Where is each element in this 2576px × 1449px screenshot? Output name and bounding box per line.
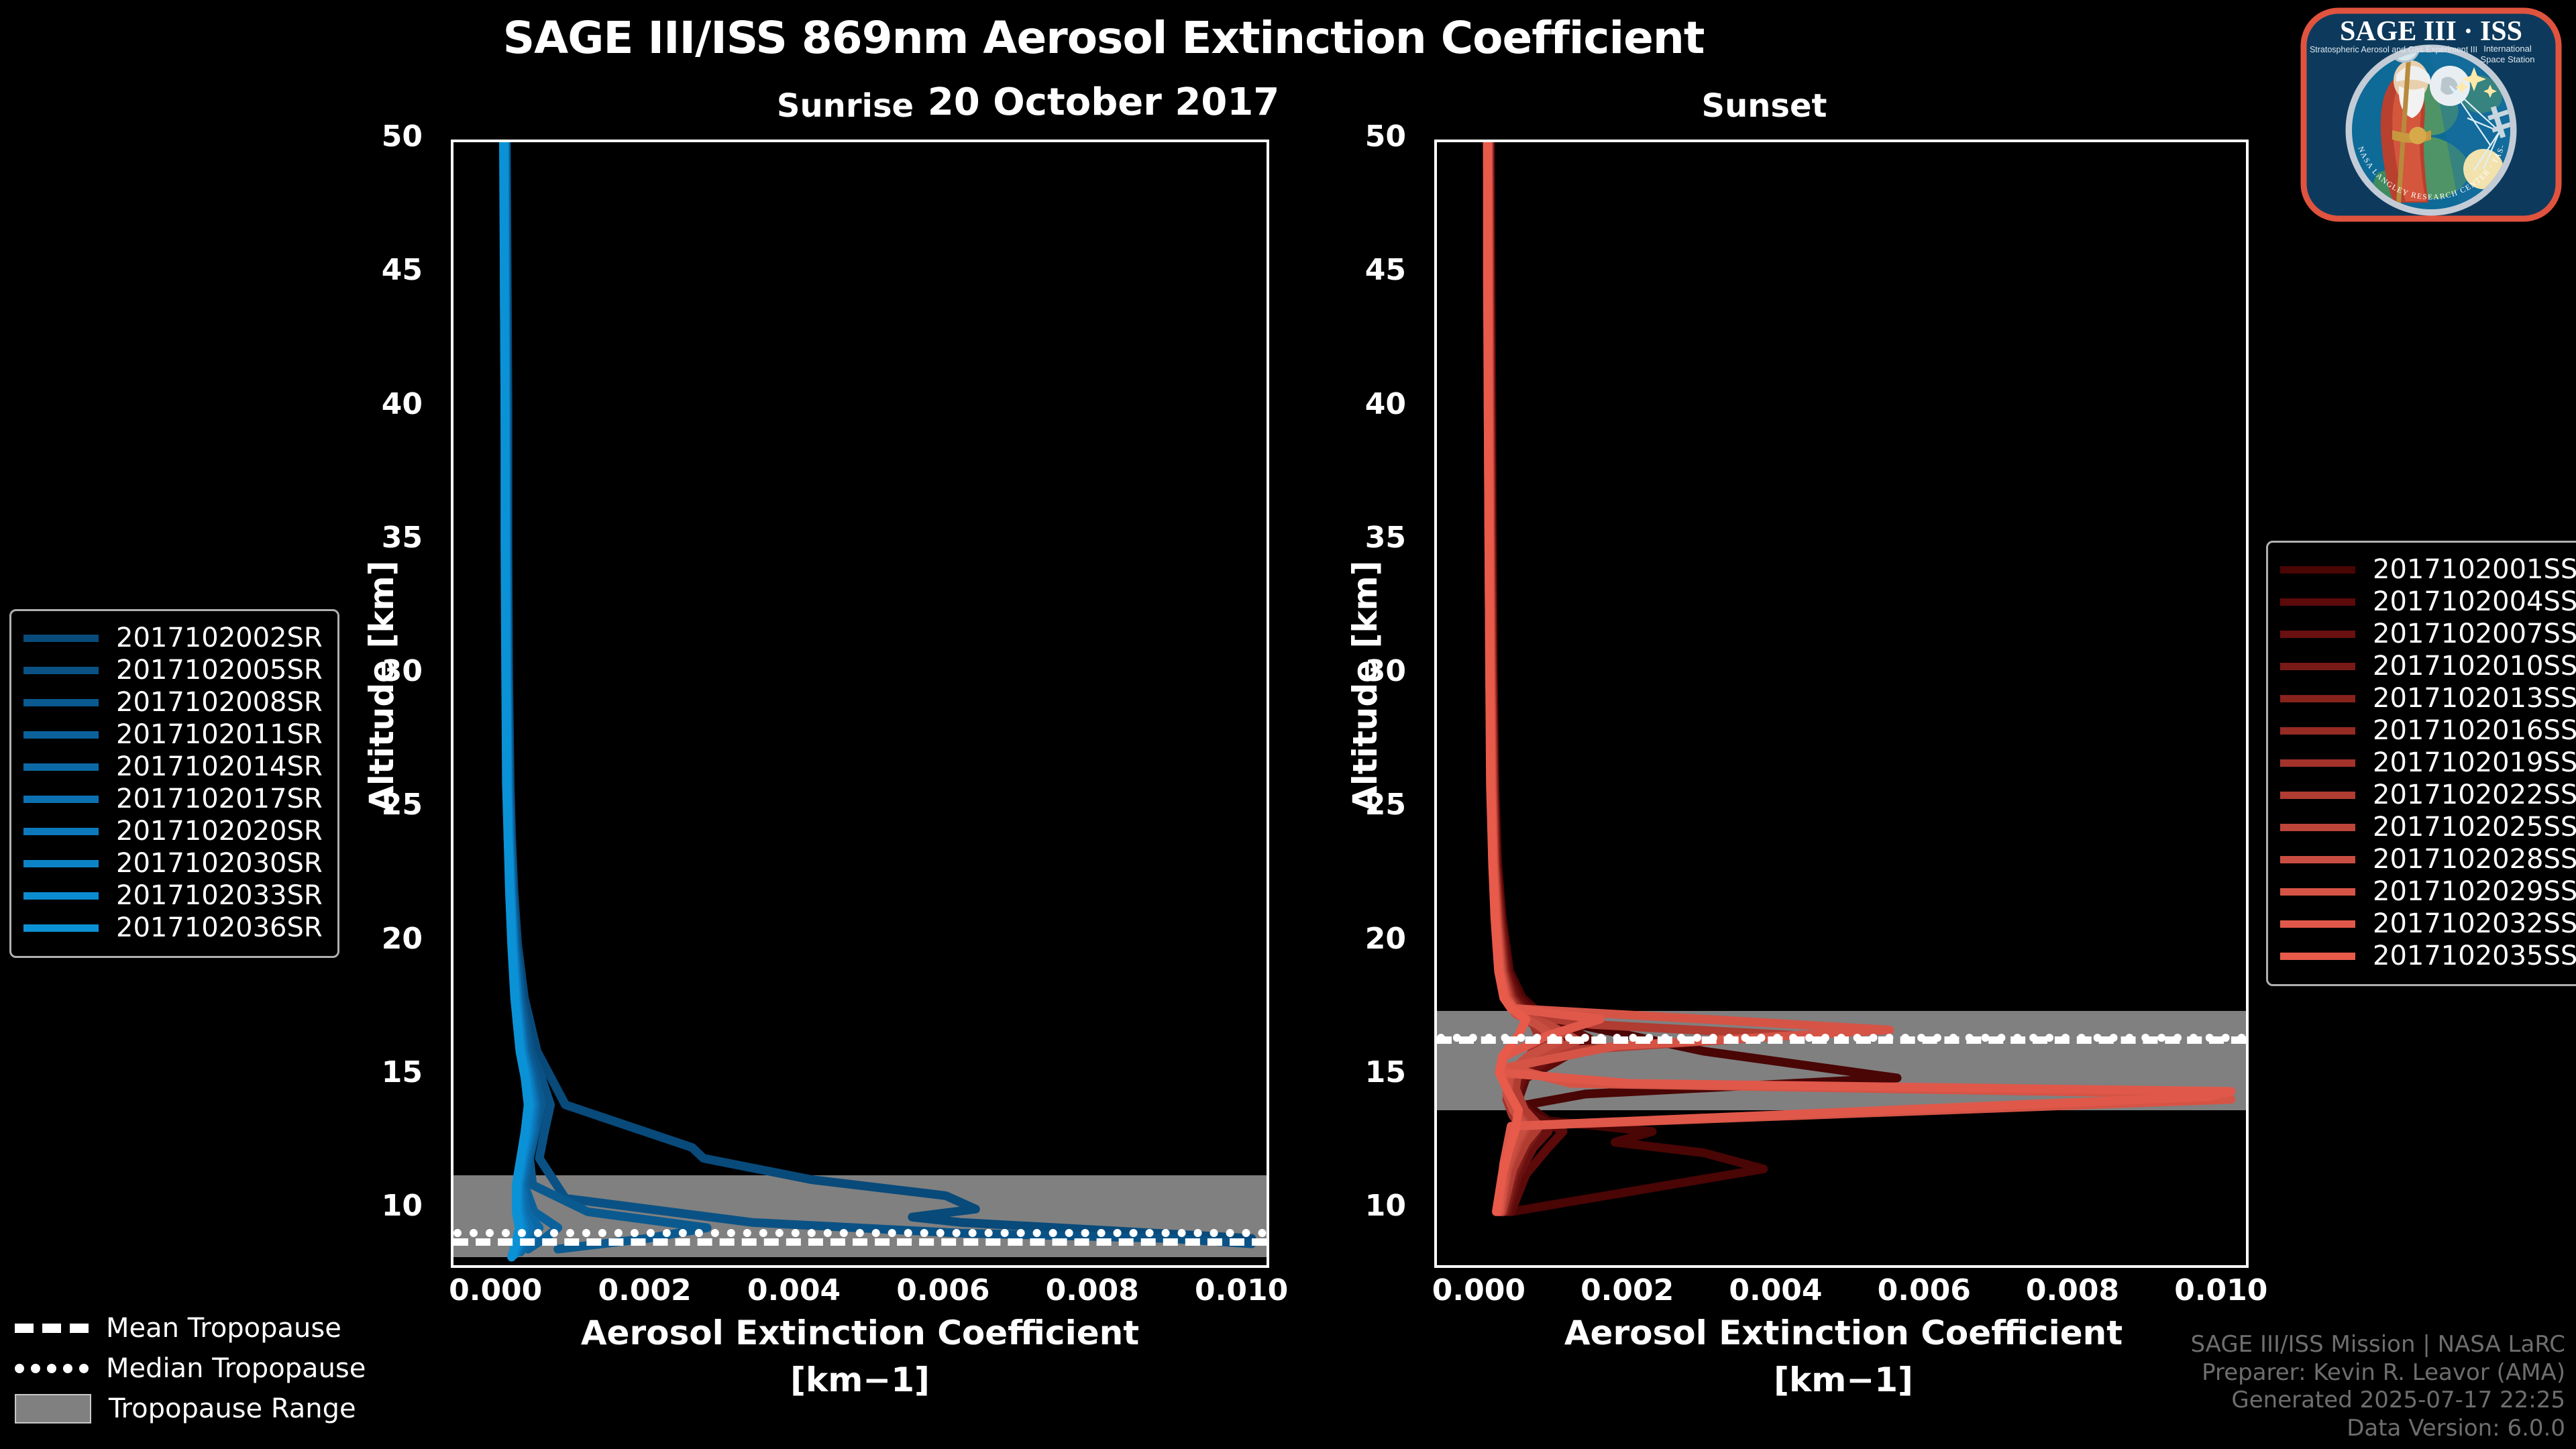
sage-iii-iss-mission-logo: BALL · NASA LANGLEY RESEARCH CENTER · TA… <box>2298 5 2564 224</box>
logo-subtitle-right-2: Space Station <box>2481 54 2535 64</box>
legend-item-label: 2017102016SS <box>2373 715 2576 746</box>
y-tick <box>1434 1077 1437 1079</box>
legend-color-swatch <box>23 667 99 674</box>
legend-item-label: 2017102032SS <box>2373 908 2576 939</box>
credit-line-version: Data Version: 6.0.0 <box>2190 1415 2565 1442</box>
sunset-profile-curves <box>1437 142 2246 1265</box>
legend-item-label: 2017102013SS <box>2373 683 2576 714</box>
profile-line <box>506 142 1252 1238</box>
x-tick-label: 0.006 <box>1850 1273 1998 1307</box>
legend-item-label: 2017102002SR <box>116 623 323 653</box>
y-tick-label: 50 <box>302 119 423 154</box>
profile-line <box>504 142 529 1257</box>
legend-item-label: 2017102020SR <box>116 816 323 847</box>
sunset-x-axis-units: [km−1] <box>1428 1360 2259 1399</box>
sunset-legend: 2017102001SS2017102004SS2017102007SS2017… <box>2266 541 2576 986</box>
legend-item-label: 2017102029SS <box>2373 876 2576 907</box>
legend-item-label: 2017102010SS <box>2373 651 2576 682</box>
legend-item[interactable]: 2017102014SR <box>23 751 323 783</box>
logo-subtitle-right-1: International <box>2483 44 2532 54</box>
y-tick <box>1434 809 1437 812</box>
legend-item[interactable]: 2017102022SS <box>2280 779 2576 811</box>
legend-item-label: 2017102019SS <box>2373 747 2576 778</box>
sunrise-x-axis-title: Aerosol Extinction Coefficient <box>444 1313 1276 1352</box>
y-tick-label: 20 <box>1285 922 1406 956</box>
y-tick-label: 35 <box>1285 521 1406 555</box>
y-tick <box>451 1077 453 1079</box>
y-tick <box>1434 1210 1437 1213</box>
y-tick <box>451 1210 453 1213</box>
y-tick-label: 30 <box>302 654 423 688</box>
sunset-panel-label: Sunset <box>1610 87 1919 125</box>
x-tick-label: 0.002 <box>571 1273 718 1307</box>
legend-item[interactable]: 2017102019SS <box>2280 747 2576 779</box>
y-tick <box>451 542 453 545</box>
x-tick-label: 0.010 <box>1168 1273 1316 1307</box>
legend-item-label: 2017102022SS <box>2373 780 2576 810</box>
y-tick-label: 40 <box>302 387 423 421</box>
sunrise-profile-curves <box>453 142 1267 1265</box>
dotted-line-icon <box>15 1364 89 1373</box>
y-tick-label: 45 <box>1285 253 1406 287</box>
y-tick <box>1434 542 1437 545</box>
y-tick-label: 25 <box>302 788 423 822</box>
legend-color-swatch <box>2280 663 2355 670</box>
legend-item[interactable]: 2017102020SR <box>23 815 323 847</box>
y-tick <box>451 676 453 678</box>
profile-line <box>506 142 1252 1244</box>
y-tick <box>1434 676 1437 678</box>
legend-item[interactable]: 2017102032SS <box>2280 908 2576 940</box>
legend-color-swatch <box>2280 856 2355 863</box>
tropopause-legend: Mean Tropopause Median Tropopause Tropop… <box>15 1308 366 1429</box>
legend-item[interactable]: 2017102017SR <box>23 783 323 815</box>
y-tick-label: 30 <box>1285 654 1406 688</box>
legend-label-median-tropopause: Median Tropopause <box>106 1353 366 1384</box>
legend-color-swatch <box>23 731 99 739</box>
mean-tropopause-line <box>453 1238 1267 1246</box>
y-tick <box>1434 274 1437 277</box>
credit-line-generated: Generated 2025-07-17 22:25 <box>2190 1387 2565 1414</box>
x-tick-label: 0.008 <box>1018 1273 1166 1307</box>
sunrise-plot-area <box>451 140 1269 1268</box>
y-tick-label: 10 <box>1285 1189 1406 1223</box>
x-tick-label: 0.010 <box>2147 1273 2295 1307</box>
y-tick <box>451 809 453 812</box>
legend-item[interactable]: 2017102011SR <box>23 718 323 751</box>
legend-item-label: 2017102025SS <box>2373 812 2576 843</box>
legend-item-label: 2017102011SR <box>116 719 323 750</box>
dashed-line-icon <box>15 1324 89 1333</box>
x-tick-label: 0.002 <box>1554 1273 1701 1307</box>
y-tick-label: 10 <box>302 1189 423 1223</box>
legend-item[interactable]: 2017102025SS <box>2280 811 2576 843</box>
legend-row-median-tropopause: Median Tropopause <box>15 1348 366 1389</box>
legend-color-swatch <box>2280 566 2355 574</box>
legend-item[interactable]: 2017102004SS <box>2280 586 2576 618</box>
legend-label-tropopause-range: Tropopause Range <box>109 1393 356 1424</box>
y-tick <box>1434 141 1437 144</box>
legend-color-swatch <box>23 860 99 867</box>
legend-color-swatch <box>2280 598 2355 606</box>
legend-color-swatch <box>2280 759 2355 767</box>
x-tick-label: 0.000 <box>422 1273 570 1307</box>
legend-color-swatch <box>2280 888 2355 896</box>
logo-title: SAGE III · ISS <box>2340 16 2522 47</box>
y-tick <box>451 409 453 411</box>
y-tick <box>451 274 453 277</box>
legend-item[interactable]: 2017102028SS <box>2280 843 2576 875</box>
sunrise-panel-label: Sunrise <box>691 87 1000 125</box>
legend-color-swatch <box>2280 727 2355 735</box>
legend-item-label: 2017102035SS <box>2373 941 2576 971</box>
legend-item-label: 2017102030SR <box>116 848 323 879</box>
legend-item[interactable]: 2017102002SR <box>23 622 323 654</box>
legend-item[interactable]: 2017102035SS <box>2280 940 2576 972</box>
legend-color-swatch <box>2280 920 2355 928</box>
y-tick-label: 40 <box>1285 387 1406 421</box>
credits-block: SAGE III/ISS Mission | NASA LaRC Prepare… <box>2190 1331 2565 1442</box>
legend-item[interactable]: 2017102008SR <box>23 686 323 718</box>
legend-item[interactable]: 2017102036SR <box>23 912 323 944</box>
legend-color-swatch <box>2280 792 2355 799</box>
x-tick-label: 0.000 <box>1405 1273 1552 1307</box>
legend-item[interactable]: 2017102005SR <box>23 654 323 686</box>
legend-color-swatch <box>23 796 99 803</box>
legend-item[interactable]: 2017102007SS <box>2280 618 2576 650</box>
legend-color-swatch <box>2280 631 2355 638</box>
gray-band-icon <box>15 1394 91 1424</box>
legend-label-mean-tropopause: Mean Tropopause <box>106 1313 341 1344</box>
y-tick <box>451 943 453 946</box>
legend-item[interactable]: 2017102010SS <box>2280 650 2576 682</box>
profile-line <box>1487 142 2231 1212</box>
legend-item-label: 2017102014SR <box>116 751 323 782</box>
sunset-plot-area <box>1434 140 2249 1268</box>
y-tick-label: 25 <box>1285 788 1406 822</box>
y-tick <box>1434 409 1437 411</box>
sunset-x-axis-title: Aerosol Extinction Coefficient <box>1428 1313 2259 1352</box>
legend-row-mean-tropopause: Mean Tropopause <box>15 1308 366 1348</box>
x-tick-label: 0.006 <box>869 1273 1017 1307</box>
logo-subtitle-left: Stratospheric Aerosol and Gas Experiment… <box>2310 45 2477 54</box>
page-title: SAGE III/ISS 869nm Aerosol Extinction Co… <box>0 12 2207 64</box>
legend-item[interactable]: 2017102030SR <box>23 847 323 879</box>
legend-item[interactable]: 2017102016SS <box>2280 714 2576 747</box>
legend-item-label: 2017102036SR <box>116 912 323 943</box>
legend-item[interactable]: 2017102013SS <box>2280 682 2576 714</box>
y-tick <box>1434 943 1437 946</box>
median-tropopause-line <box>1437 1034 2246 1042</box>
x-tick-label: 0.008 <box>1999 1273 2147 1307</box>
sunrise-x-axis-units: [km−1] <box>444 1360 1276 1399</box>
legend-color-swatch <box>23 763 99 771</box>
y-tick-label: 50 <box>1285 119 1406 154</box>
y-tick-label: 15 <box>302 1055 423 1089</box>
y-tick-label: 20 <box>302 922 423 956</box>
legend-color-swatch <box>2280 695 2355 702</box>
legend-item-label: 2017102005SR <box>116 655 323 686</box>
legend-item-label: 2017102001SS <box>2373 554 2576 585</box>
y-tick-label: 15 <box>1285 1055 1406 1089</box>
legend-color-swatch <box>23 699 99 706</box>
x-tick-label: 0.004 <box>720 1273 867 1307</box>
legend-item-label: 2017102008SR <box>116 687 323 718</box>
y-tick-label: 45 <box>302 253 423 287</box>
legend-item[interactable]: 2017102001SS <box>2280 553 2576 586</box>
y-tick-label: 35 <box>302 521 423 555</box>
legend-item-label: 2017102033SR <box>116 880 323 911</box>
legend-item-label: 2017102004SS <box>2373 586 2576 617</box>
legend-item[interactable]: 2017102029SS <box>2280 875 2576 908</box>
legend-item[interactable]: 2017102033SR <box>23 879 323 912</box>
legend-color-swatch <box>23 924 99 932</box>
credit-line-mission: SAGE III/ISS Mission | NASA LaRC <box>2190 1331 2565 1358</box>
legend-item-label: 2017102017SR <box>116 784 323 814</box>
legend-item-label: 2017102007SS <box>2373 619 2576 649</box>
credit-line-preparer: Preparer: Kevin R. Leavor (AMA) <box>2190 1359 2565 1387</box>
sunrise-legend: 2017102002SR2017102005SR2017102008SR2017… <box>9 609 339 958</box>
legend-color-swatch <box>2280 953 2355 960</box>
legend-color-swatch <box>23 635 99 642</box>
legend-row-tropopause-range: Tropopause Range <box>15 1389 366 1429</box>
legend-color-swatch <box>2280 824 2355 831</box>
y-tick <box>451 141 453 144</box>
x-tick-label: 0.004 <box>1702 1273 1849 1307</box>
median-tropopause-line <box>453 1229 1267 1237</box>
legend-color-swatch <box>23 828 99 835</box>
legend-color-swatch <box>23 892 99 900</box>
legend-item-label: 2017102028SS <box>2373 844 2576 875</box>
